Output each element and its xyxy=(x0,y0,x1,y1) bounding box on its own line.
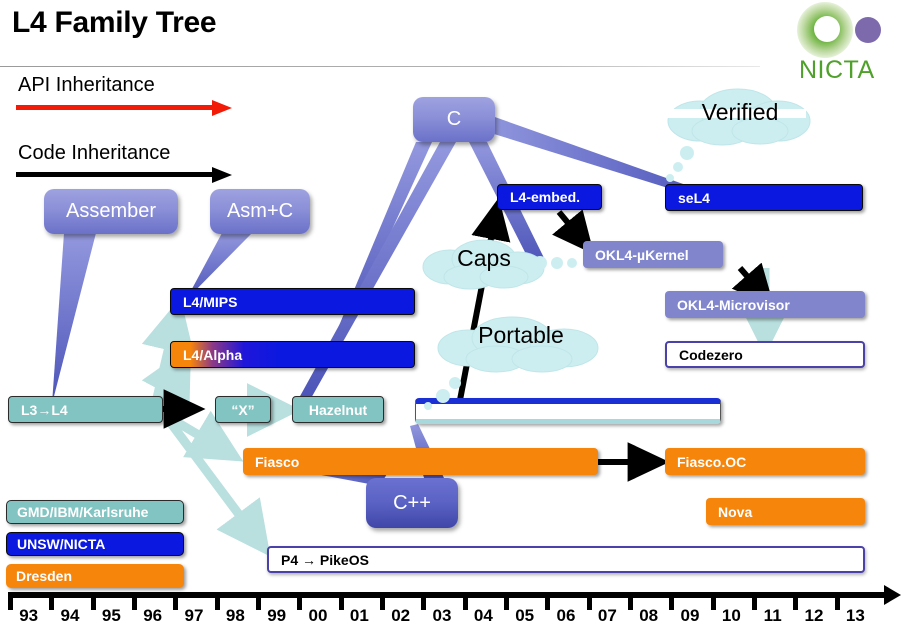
node-okl4-microvisor[interactable]: OKL4-Microvisor xyxy=(665,291,865,318)
logo-white-dot-icon xyxy=(814,16,840,42)
timeline-year-label: 96 xyxy=(132,606,173,626)
timeline-year-label: 06 xyxy=(545,606,586,626)
timeline-year-label: 13 xyxy=(835,606,876,626)
node-sel4[interactable]: seL4 xyxy=(665,184,863,211)
timeline-year-label: 01 xyxy=(339,606,380,626)
timeline-arrow-icon xyxy=(884,585,901,605)
node-l4-embed[interactable]: L4-embed. xyxy=(497,184,602,210)
title-divider xyxy=(0,66,760,67)
legend-code-inheritance-label: Code Inheritance xyxy=(18,142,170,165)
page-title: L4 Family Tree xyxy=(12,6,216,40)
origin-legend-gmd-ibm-karlsruhe[interactable]: GMD/IBM/Karlsruhe xyxy=(6,500,184,524)
origin-legend-unsw-nicta[interactable]: UNSW/NICTA xyxy=(6,532,184,556)
node-l4-mips[interactable]: L4/MIPS xyxy=(170,288,415,315)
cloud-portable-label: Portable xyxy=(432,322,610,349)
timeline-year-label: 08 xyxy=(628,606,669,626)
node-fiasco[interactable]: Fiasco xyxy=(243,448,598,475)
timeline-year-label: 95 xyxy=(91,606,132,626)
timeline-axis xyxy=(8,592,893,598)
timeline-year-label: 04 xyxy=(463,606,504,626)
cloud-verified: Verified xyxy=(660,85,820,147)
origin-legend-dresden[interactable]: Dresden xyxy=(6,564,184,588)
callout-asm-c[interactable]: Asm+C xyxy=(210,189,310,234)
callout-cpp[interactable]: C++ xyxy=(366,478,458,528)
timeline-year-label: 97 xyxy=(173,606,214,626)
cloud-portable: Portable xyxy=(432,312,610,376)
slide-canvas: L4 Family Tree NICTA API Inheritance Cod… xyxy=(0,0,901,631)
timeline-year-label: 02 xyxy=(380,606,421,626)
node-l4-alpha[interactable]: L4/Alpha xyxy=(170,341,415,368)
timeline-year-label: 05 xyxy=(504,606,545,626)
nicta-logo: NICTA xyxy=(793,2,893,84)
cloud-caps: Caps xyxy=(418,235,550,291)
node-p4-pikeos[interactable]: P4 → PikeOS xyxy=(267,546,865,573)
node-x[interactable]: “X” xyxy=(215,396,271,423)
timeline-year-label: 00 xyxy=(297,606,338,626)
timeline-year-label: 12 xyxy=(793,606,834,626)
timeline-year-label: 99 xyxy=(256,606,297,626)
logo-wordmark: NICTA xyxy=(799,56,875,85)
callout-assember[interactable]: Assember xyxy=(44,189,178,234)
logo-purple-dot-icon xyxy=(855,17,881,43)
callout-c[interactable]: C xyxy=(413,97,495,142)
timeline-year-label: 03 xyxy=(421,606,462,626)
timeline-year-label: 07 xyxy=(587,606,628,626)
node-l3-l4[interactable]: L3→L4 xyxy=(8,396,163,423)
cloud-caps-label: Caps xyxy=(418,245,550,272)
timeline-year-label: 09 xyxy=(669,606,710,626)
node-pistachio[interactable] xyxy=(415,398,721,424)
legend-api-inheritance-label: API Inheritance xyxy=(18,74,155,97)
node-okl4-ukernel[interactable]: OKL4-µKernel xyxy=(583,241,723,268)
node-fiasco-oc[interactable]: Fiasco.OC xyxy=(665,448,865,475)
node-nova[interactable]: Nova xyxy=(706,498,865,525)
timeline-year-label: 10 xyxy=(711,606,752,626)
cloud-verified-label: Verified xyxy=(660,99,820,126)
timeline-year-label: 93 xyxy=(8,606,49,626)
timeline-year-label: 94 xyxy=(49,606,90,626)
node-hazelnut[interactable]: Hazelnut xyxy=(292,396,384,423)
node-codezero[interactable]: Codezero xyxy=(665,341,865,368)
timeline-year-label: 98 xyxy=(215,606,256,626)
timeline-year-label: 11 xyxy=(752,606,793,626)
